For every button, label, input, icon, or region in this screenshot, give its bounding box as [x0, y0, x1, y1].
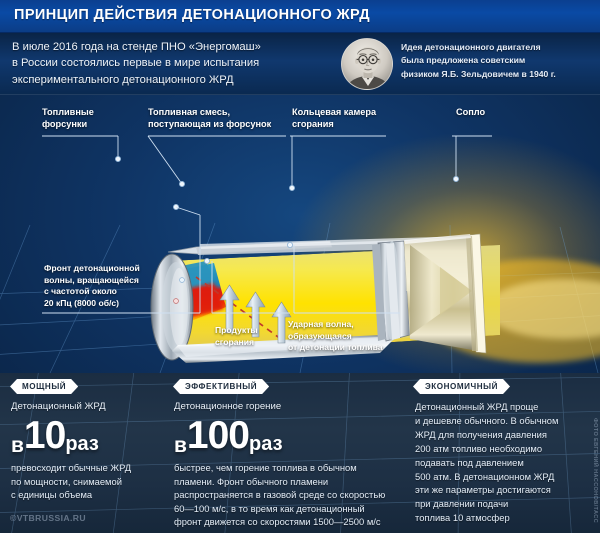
- engine-diagram: Топливные форсунки Топливная смесь, пост…: [0, 95, 600, 373]
- callout-detonation-front-line-2: волны, вращающейся: [44, 275, 140, 287]
- bignum-effective-value: 100: [187, 414, 249, 457]
- photo-credit: ФОТО ЕВГЕНИЙ НАССОНОВ/ТАСС: [592, 418, 598, 523]
- badge-economical: ЭКОНОМИЧНЫЙ: [413, 379, 510, 394]
- body-effective: быстрее, чем горение топлива в обычном п…: [174, 461, 385, 529]
- body-economical-line-6: 500 атм. В детонационном ЖРД: [415, 470, 558, 484]
- body-powerful-line-1: превосходит обычные ЖРД: [11, 461, 131, 475]
- benefits-panel: МОЩНЫЙ Детонационный ЖРД в10раз превосхо…: [0, 373, 600, 533]
- callout-detonation-front-line-4: 20 кПц (8000 об/с): [44, 298, 140, 310]
- bignum-effective: в100раз: [174, 414, 283, 458]
- callout-detonation-front: Фронт детонационной волны, вращающейся с…: [44, 263, 140, 309]
- body-economical-line-2: и дешевле обычного. В обычном: [415, 414, 558, 428]
- page-title: ПРИНЦИП ДЕЙСТВИЯ ДЕТОНАЦИОННОГО ЖРД: [14, 7, 370, 23]
- callout-fuel-injectors-line-2: форсунки: [42, 118, 94, 130]
- portrait-caption-line-3: физиком Я.Б. Зельдовичем в 1940 г.: [401, 68, 597, 81]
- body-effective-line-3: распространяется в газовой среде со скор…: [174, 488, 385, 502]
- benefit-column-economical: ЭКОНОМИЧНЫЙ Детонационный ЖРД проще и де…: [405, 373, 600, 533]
- body-economical-line-9: топлива 10 атмосфер: [415, 511, 558, 525]
- front-ring: [151, 254, 193, 360]
- portrait-caption: Идея детонационного двигателя была предл…: [401, 41, 597, 81]
- callout-shock-wave-line-3: от детонации топлива: [288, 342, 383, 354]
- callout-nozzle: Сопло: [456, 106, 485, 118]
- callout-combustion-products-line-2: сгорания: [215, 337, 258, 349]
- benefit-column-effective: ЭФФЕКТИВНЫЙ Детонационное горение в100ра…: [165, 373, 405, 533]
- bignum-powerful: в10раз: [11, 414, 99, 458]
- callout-fuel-injectors-line-1: Топливные: [42, 106, 94, 118]
- body-effective-line-4: 60—100 м/с, в то время как детонационный: [174, 502, 385, 516]
- callout-fuel-injectors: Топливные форсунки: [42, 106, 94, 131]
- body-economical-line-8: при давлении подачи: [415, 497, 558, 511]
- site-watermark: ©VTBRUSSIA.RU: [10, 513, 86, 523]
- body-effective-line-1: быстрее, чем горение топлива в обычном: [174, 461, 385, 475]
- callout-combustion-products: Продукты сгорания: [215, 325, 258, 348]
- callout-detonation-front-line-3: с частотой около: [44, 286, 140, 298]
- callout-annular-chamber-line-2: сгорания: [292, 118, 376, 130]
- nozzle-bell: [404, 234, 486, 353]
- benefit-column-powerful: МОЩНЫЙ Детонационный ЖРД в10раз превосхо…: [0, 373, 165, 533]
- bignum-powerful-pre: в: [11, 434, 24, 457]
- callout-shock-wave: Ударная волна, образующаяся от детонации…: [288, 319, 383, 354]
- callout-shock-wave-line-1: Ударная волна,: [288, 319, 383, 331]
- intro-line-2: в России состоялись первые в мире испыта…: [12, 55, 332, 71]
- body-effective-line-2: пламени. Фронт обычного пламени: [174, 475, 385, 489]
- bignum-effective-pre: в: [174, 434, 187, 457]
- intro-text: В июле 2016 года на стенде ПНО «Энергома…: [12, 39, 332, 88]
- body-economical: Детонационный ЖРД проще и дешевле обычно…: [415, 400, 558, 525]
- bignum-effective-post: раз: [249, 433, 283, 455]
- body-economical-line-4: 200 атм топливо необходимо: [415, 442, 558, 456]
- body-powerful-line-3: с единицы объема: [11, 488, 131, 502]
- callout-shock-wave-line-2: образующаяся: [288, 331, 383, 343]
- bignum-powerful-post: раз: [65, 433, 99, 455]
- body-economical-line-1: Детонационный ЖРД проще: [415, 400, 558, 414]
- body-economical-line-7: эти же параметры достигаются: [415, 483, 558, 497]
- callout-annular-chamber: Кольцевая камера сгорания: [292, 106, 376, 131]
- callout-detonation-front-line-1: Фронт детонационной: [44, 263, 140, 275]
- body-powerful: превосходит обычные ЖРД по мощности, сни…: [11, 461, 131, 502]
- lede-powerful: Детонационный ЖРД: [11, 401, 106, 412]
- badge-effective: ЭФФЕКТИВНЫЙ: [173, 379, 269, 394]
- body-powerful-line-2: по мощности, снимаемой: [11, 475, 131, 489]
- badge-powerful: МОЩНЫЙ: [10, 379, 78, 394]
- callout-fuel-mixture-line-2: поступающая из форсунок: [148, 118, 271, 130]
- portrait-caption-line-1: Идея детонационного двигателя: [401, 41, 597, 54]
- intro-line-1: В июле 2016 года на стенде ПНО «Энергома…: [12, 39, 332, 55]
- body-economical-line-5: подавать под давлением: [415, 456, 558, 470]
- infographic-page: ПРИНЦИП ДЕЙСТВИЯ ДЕТОНАЦИОННОГО ЖРД В ию…: [0, 0, 600, 533]
- zeldovich-portrait: [341, 38, 393, 90]
- callout-fuel-mixture: Топливная смесь, поступающая из форсунок: [148, 106, 271, 131]
- intro-line-3: экспериментального детонационного ЖРД: [12, 72, 332, 88]
- body-effective-line-5: фронт движется со скоростями 1500—2500 м…: [174, 515, 385, 529]
- callout-nozzle-line-1: Сопло: [456, 106, 485, 118]
- callout-fuel-mixture-line-1: Топливная смесь,: [148, 106, 271, 118]
- portrait-caption-line-2: была предложена советским: [401, 54, 597, 67]
- bignum-powerful-value: 10: [24, 414, 65, 457]
- callout-combustion-products-line-1: Продукты: [215, 325, 258, 337]
- callout-annular-chamber-line-1: Кольцевая камера: [292, 106, 376, 118]
- lede-effective: Детонационное горение: [174, 401, 281, 412]
- body-economical-line-3: ЖРД для получения давления: [415, 428, 558, 442]
